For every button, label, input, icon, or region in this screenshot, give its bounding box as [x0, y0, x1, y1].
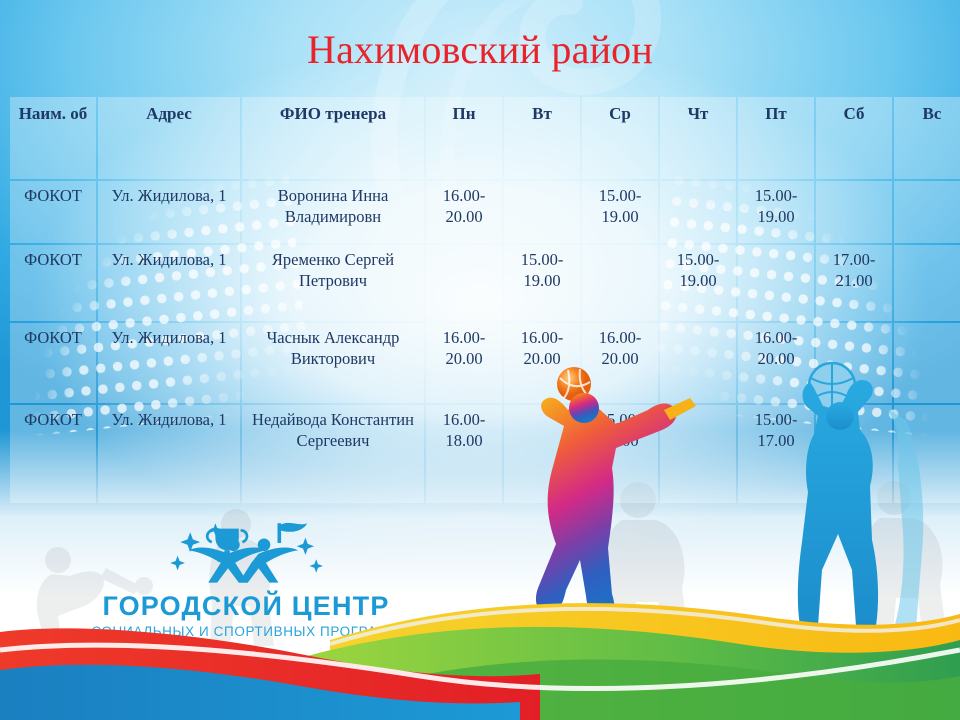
cell-tuesday [504, 181, 580, 243]
cell-friday [738, 245, 814, 321]
cell-sunday [894, 245, 960, 321]
page-title: Нахимовский район [0, 26, 960, 73]
cell-facility: ФОКОТ [10, 323, 96, 403]
bottom-wave-decoration [0, 588, 960, 720]
cell-wednesday [582, 245, 658, 321]
column-header-friday: Пт [738, 97, 814, 179]
cell-saturday [816, 181, 892, 243]
column-header-monday: Пн [426, 97, 502, 179]
cell-thursday: 15.00-19.00 [660, 245, 736, 321]
cell-address: Ул. Жидилова, 1 [98, 181, 240, 243]
cell-monday: 16.00-18.00 [426, 405, 502, 503]
slide-canvas: Нахимовский район [0, 0, 960, 720]
cell-coach: Недайвода Константин Сергеевич [242, 405, 424, 503]
column-header-address: Адрес [98, 97, 240, 179]
cell-address: Ул. Жидилова, 1 [98, 405, 240, 503]
cell-monday [426, 245, 502, 321]
column-header-saturday: Сб [816, 97, 892, 179]
people-and-trophy-emblem-icon [138, 516, 354, 588]
cell-facility: ФОКОТ [10, 181, 96, 243]
table-row: ФОКОТ Ул. Жидилова, 1 Воронина Инна Влад… [10, 181, 960, 243]
table-header-row: Наим. об Адрес ФИО тренера Пн Вт Ср Чт П… [10, 97, 960, 179]
cell-coach: Часнык Александр Викторович [242, 323, 424, 403]
cell-monday: 16.00-20.00 [426, 323, 502, 403]
column-header-coach: ФИО тренера [242, 97, 424, 179]
cell-address: Ул. Жидилова, 1 [98, 245, 240, 321]
cell-facility: ФОКОТ [10, 245, 96, 321]
column-header-thursday: Чт [660, 97, 736, 179]
cell-sunday [894, 181, 960, 243]
cell-coach: Яременко Сергей Петрович [242, 245, 424, 321]
column-header-tuesday: Вт [504, 97, 580, 179]
cell-facility: ФОКОТ [10, 405, 96, 503]
cell-tuesday: 15.00-19.00 [504, 245, 580, 321]
column-header-sunday: Вс [894, 97, 960, 179]
table-row: ФОКОТ Ул. Жидилова, 1 Яременко Сергей Пе… [10, 245, 960, 321]
cell-wednesday: 15.00-19.00 [582, 181, 658, 243]
cell-monday: 16.00-20.00 [426, 181, 502, 243]
column-header-name: Наим. об [10, 97, 96, 179]
cell-saturday: 17.00-21.00 [816, 245, 892, 321]
cell-friday: 15.00-19.00 [738, 181, 814, 243]
column-header-wednesday: Ср [582, 97, 658, 179]
cell-coach: Воронина Инна Владимировн [242, 181, 424, 243]
cell-thursday [660, 181, 736, 243]
cell-address: Ул. Жидилова, 1 [98, 323, 240, 403]
